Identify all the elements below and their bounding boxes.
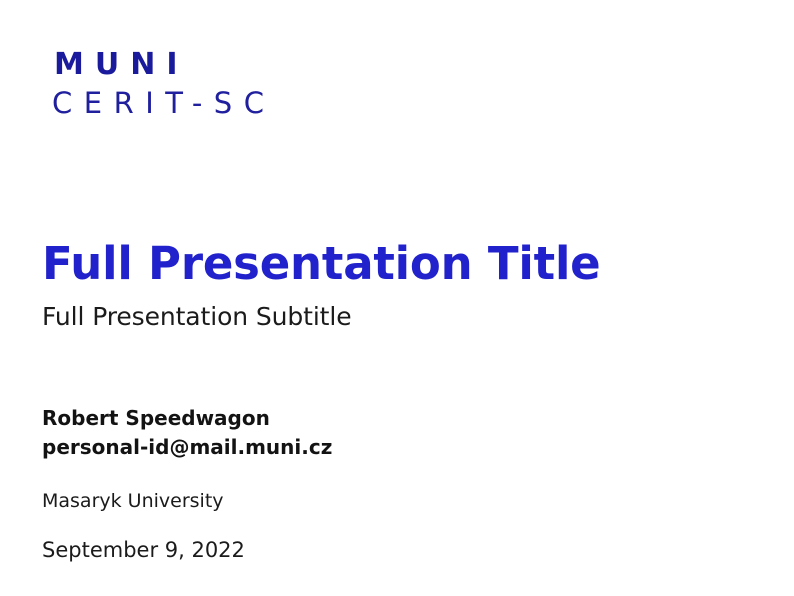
- presentation-subtitle: Full Presentation Subtitle: [42, 302, 742, 332]
- author-name: Robert Speedwagon: [42, 405, 742, 432]
- muni-cerit-sc-logo: MUNI CERIT-SC: [52, 50, 275, 118]
- presentation-date: September 9, 2022: [42, 537, 742, 564]
- logo-cerit-sc-wordmark: CERIT-SC: [52, 89, 275, 118]
- author-email: personal-id@mail.muni.cz: [42, 434, 742, 461]
- title-slide: MUNI CERIT-SC Full Presentation Title Fu…: [0, 0, 794, 596]
- presentation-title: Full Presentation Title: [42, 240, 742, 287]
- title-block: Full Presentation Title Full Presentatio…: [42, 240, 742, 332]
- author-meta-block: Robert Speedwagon personal-id@mail.muni.…: [42, 405, 742, 564]
- logo-muni-wordmark: MUNI: [54, 50, 275, 80]
- author-affiliation: Masaryk University: [42, 489, 742, 514]
